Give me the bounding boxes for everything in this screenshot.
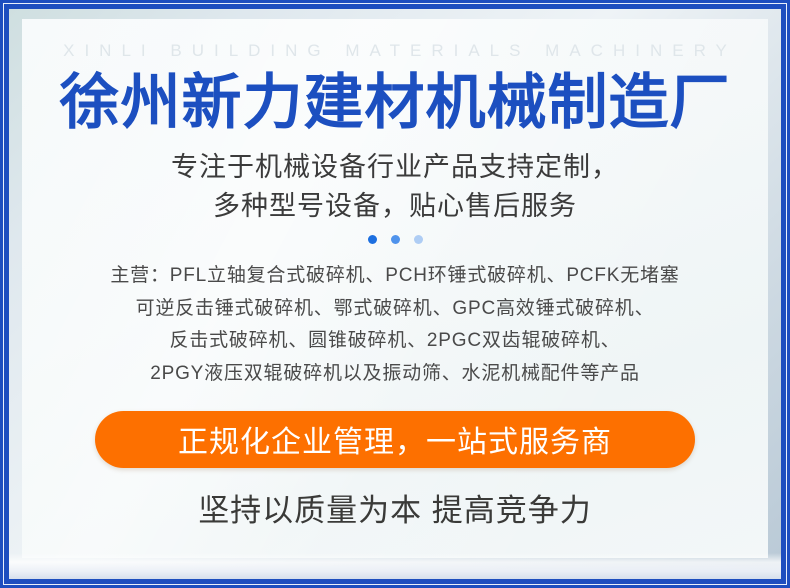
product-list: 主营：PFL立轴复合式破碎机、PCH环锤式破碎机、PCFK无堵塞 可逆反击锤式破…: [110, 260, 679, 391]
product-line-1: 主营：PFL立轴复合式破碎机、PCH环锤式破碎机、PCFK无堵塞: [110, 260, 679, 293]
cta-button[interactable]: 正规化企业管理，一站式服务商: [95, 411, 695, 468]
product-line-2: 可逆反击锤式破碎机、鄂式破碎机、GPC高效锤式破碎机、: [110, 293, 679, 326]
tagline-line-1: 专注于机械设备行业产品支持定制，: [171, 148, 619, 186]
company-banner: XINLI BUILDING MATERIALS MACHINERY 徐州新力建…: [0, 0, 790, 588]
company-title: 徐州新力建材机械制造厂: [60, 69, 731, 136]
banner-content-card: XINLI BUILDING MATERIALS MACHINERY 徐州新力建…: [22, 19, 768, 558]
english-kicker: XINLI BUILDING MATERIALS MACHINERY: [53, 42, 737, 59]
tagline-block: 专注于机械设备行业产品支持定制， 多种型号设备，贴心售后服务: [171, 148, 619, 225]
product-line-3: 反击式破碎机、圆锥破碎机、2PGC双齿辊破碎机、: [110, 325, 679, 358]
dot-separator: [368, 235, 423, 244]
dot-active-icon: [368, 235, 377, 244]
product-line-4: 2PGY液压双辊破碎机以及振动筛、水泥机械配件等产品: [110, 358, 679, 391]
tagline-line-2: 多种型号设备，贴心售后服务: [171, 187, 619, 225]
dot-mid-icon: [391, 235, 400, 244]
dot-faint-icon: [414, 235, 423, 244]
bottom-slogan: 坚持以质量为本 提高竞争力: [198, 485, 592, 530]
banner-content-stack: XINLI BUILDING MATERIALS MACHINERY 徐州新力建…: [22, 19, 768, 558]
